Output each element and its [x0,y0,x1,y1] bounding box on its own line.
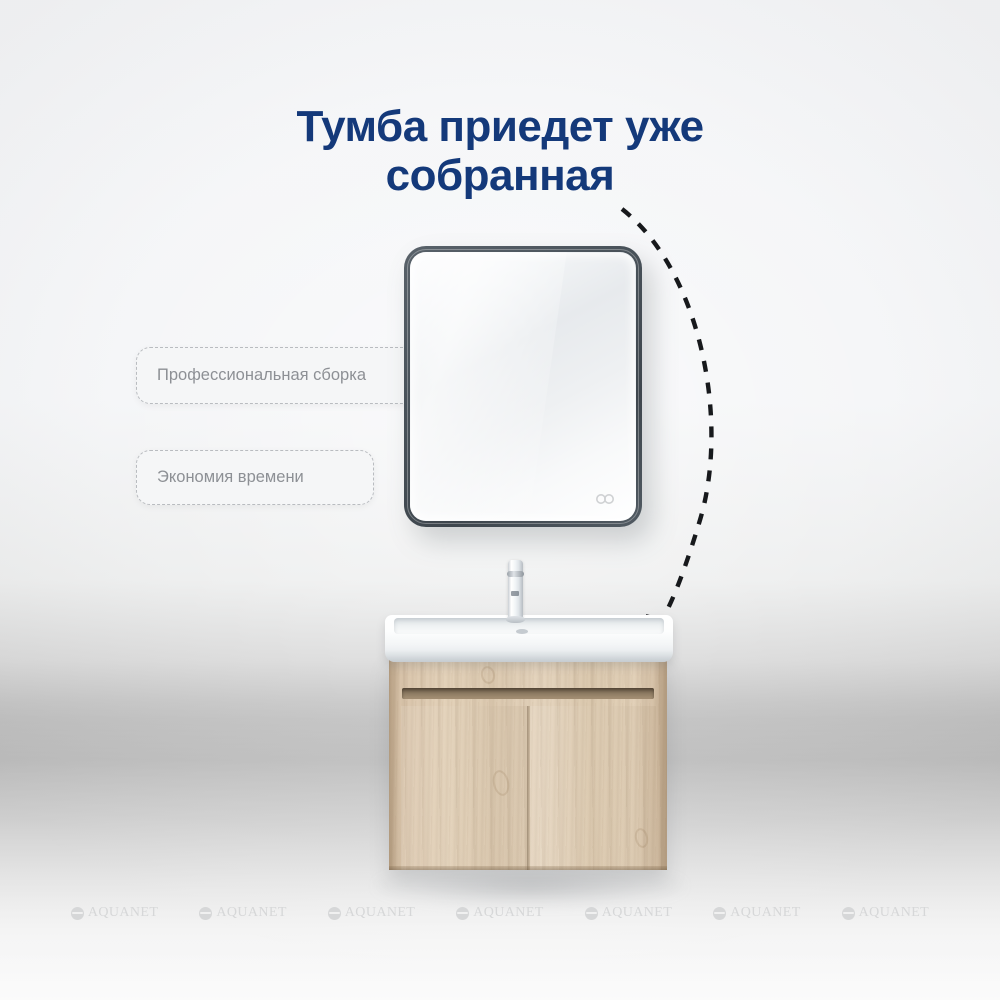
watermark: AQUANET [199,900,286,926]
feature-pill-label: Профессиональная сборка [157,366,366,385]
vanity-unit [383,560,673,875]
washbasin-front-shading [385,650,673,662]
aquanet-logo-icon [842,907,855,920]
watermark-row: AQUANET AQUANET AQUANET AQUANET AQUANET … [0,900,1000,926]
faucet-body [508,560,523,618]
watermark-label: AQUANET [473,905,543,921]
page-title: Тумба приедет уже собранная [0,102,1000,201]
faucet-brand-mark [511,591,519,596]
feature-pill-time-saving: Экономия времени [136,450,374,505]
watermark-label: AQUANET [88,905,158,921]
ceramic-washbasin [385,615,673,662]
watermark: AQUANET [456,900,543,926]
chrome-faucet [505,560,525,622]
watermark: AQUANET [71,900,158,926]
touch-sensor-icon [594,493,616,505]
cabinet-edge-right [656,658,667,870]
vanity-cabinet [389,658,667,870]
promo-banner: Тумба приедет уже собранная Профессионал… [0,0,1000,1000]
washbasin-drain [516,629,528,634]
watermark: AQUANET [328,900,415,926]
cabinet-door-gap [527,706,530,870]
mirror-glass [410,252,636,521]
watermark: AQUANET [585,900,672,926]
faucet-base [506,616,525,623]
watermark-label: AQUANET [730,905,800,921]
aquanet-logo-icon [199,907,212,920]
recessed-grip-handle [402,688,654,699]
cabinet-bottom-edge [389,866,667,870]
mirror-led-backlight [411,253,635,520]
watermark-label: AQUANET [859,905,929,921]
cabinet-edge-left [389,658,400,870]
aquanet-logo-icon [713,907,726,920]
aquanet-logo-icon [456,907,469,920]
aquanet-logo-icon [585,907,598,920]
aquanet-logo-icon [71,907,84,920]
watermark-label: AQUANET [216,905,286,921]
bathroom-mirror [404,246,642,527]
faucet-lever [507,571,524,577]
watermark-label: AQUANET [602,905,672,921]
watermark: AQUANET [713,900,800,926]
aquanet-logo-icon [328,907,341,920]
watermark-label: AQUANET [345,905,415,921]
feature-pill-label: Экономия времени [157,468,304,487]
watermark: AQUANET [842,900,929,926]
washbasin-bowl [394,618,664,634]
